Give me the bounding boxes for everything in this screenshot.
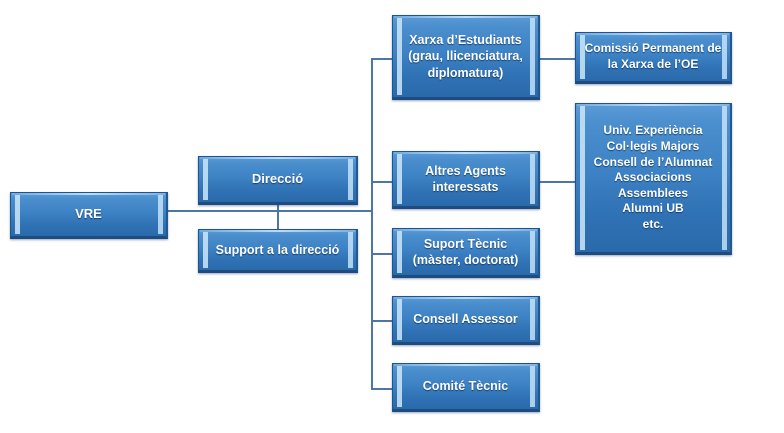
node-consell-assessor-label: Consell Assessor [409,311,521,327]
node-direccio[interactable]: Direcció [198,156,358,205]
node-entitats-llista[interactable]: Univ. Experiència Col·legis Majors Conse… [575,103,732,255]
node-support-a-la-direccio-label: Support a la direcció [212,242,344,258]
node-altres-agents[interactable]: Altres Agents interessats [392,151,540,209]
node-altres-agents-label: Altres Agents interessats [421,163,510,196]
node-direccio-label: Direcció [248,171,307,188]
connector-trunk-to-altres [371,181,393,183]
org-chart-canvas: VRE Direcció Support a la direcció Xarxa… [0,0,784,433]
connector-main-trunk [371,58,373,389]
node-comissio-permanent-label: Comissió Permanent de la Xarxa de l’OE [576,41,730,72]
node-comissio-permanent[interactable]: Comissió Permanent de la Xarxa de l’OE [575,32,732,84]
node-entitats-llista-label: Univ. Experiència Col·legis Majors Conse… [576,123,730,232]
connector-xarxa-to-comissio [539,58,575,60]
connector-altres-to-llista [539,181,575,183]
node-consell-assessor[interactable]: Consell Assessor [392,296,540,345]
node-vre[interactable]: VRE [10,192,168,239]
node-xarxa-estudiants-label: Xarxa d’Estudiants (grau, llicenciatura,… [404,32,527,81]
connector-trunk-to-suport-tecnic [371,253,393,255]
node-xarxa-estudiants[interactable]: Xarxa d’Estudiants (grau, llicenciatura,… [392,15,540,100]
connector-branch-to-trunk [277,210,373,212]
connector-trunk-to-comite [371,388,393,390]
connector-trunk-to-xarxa [371,58,393,60]
node-suport-tecnic-label: Suport Tècnic (màster, doctorat) [409,236,523,269]
node-comite-tecnic-label: Comité Tècnic [419,378,512,394]
node-comite-tecnic[interactable]: Comité Tècnic [392,363,540,412]
node-suport-tecnic[interactable]: Suport Tècnic (màster, doctorat) [392,228,540,278]
connector-vre-to-branch [168,210,278,212]
node-support-a-la-direccio[interactable]: Support a la direcció [198,229,358,273]
node-vre-label: VRE [71,206,106,223]
connector-trunk-to-consell [371,320,393,322]
